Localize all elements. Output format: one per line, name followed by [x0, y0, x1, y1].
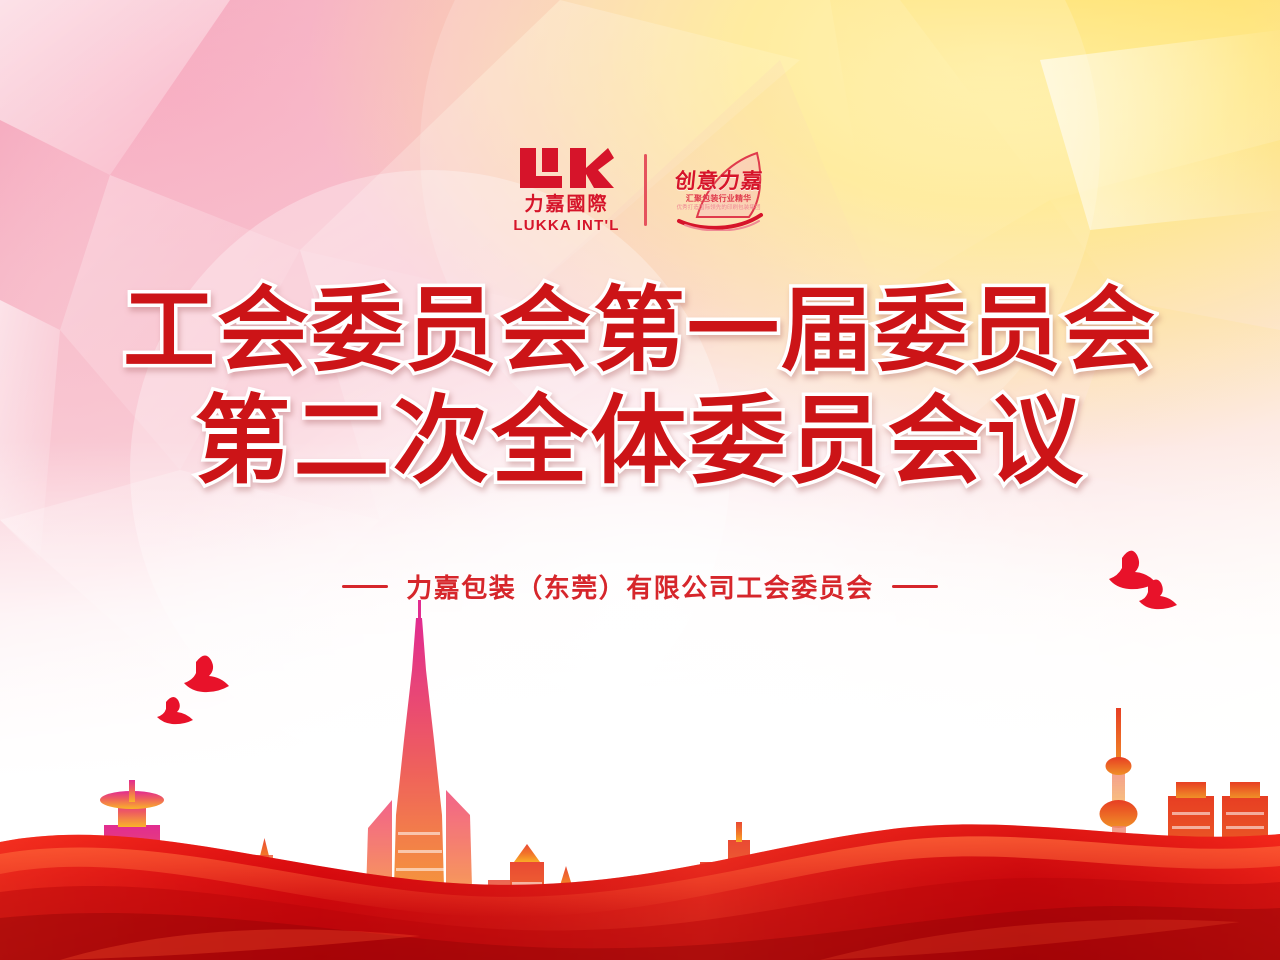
vertical-divider-icon — [644, 154, 647, 226]
logo-en-name: LUKKA INT'L — [513, 218, 619, 233]
subtitle: 力嘉包装（东莞）有限公司工会委员会 — [0, 568, 1280, 605]
creative-lukka-badge: 创意力嘉 汇聚包装行业精华 优秀打造国际领先的印刷包装集团 — [671, 149, 767, 231]
page-title: 工会委员会第一届委员会 第二次全体委员会议 — [0, 276, 1280, 496]
lukka-logo: 力嘉國際 LUKKA INT'L — [513, 146, 619, 233]
lk-monogram-icon — [518, 146, 614, 188]
title-line-1: 工会委员会第一届委员会 — [0, 276, 1280, 386]
badge-sub-text-2: 优秀打造国际领先的印刷包装集团 — [671, 203, 767, 211]
red-silk-ribbon-icon — [0, 780, 1280, 960]
poster-canvas: 力嘉國際 LUKKA INT'L 创意力嘉 汇聚包装行业精华 优秀打造国际领先的… — [0, 0, 1280, 960]
title-line-2: 第二次全体委员会议 — [0, 386, 1280, 496]
horizontal-rule-icon — [892, 585, 938, 588]
badge-main-text: 创意力嘉 — [669, 165, 768, 195]
logo-row: 力嘉國際 LUKKA INT'L 创意力嘉 汇聚包装行业精华 优秀打造国际领先的… — [0, 146, 1280, 233]
subtitle-text: 力嘉包装（东莞）有限公司工会委员会 — [406, 568, 874, 605]
horizontal-rule-icon — [342, 585, 388, 588]
logo-cn-name: 力嘉國際 — [524, 195, 608, 214]
